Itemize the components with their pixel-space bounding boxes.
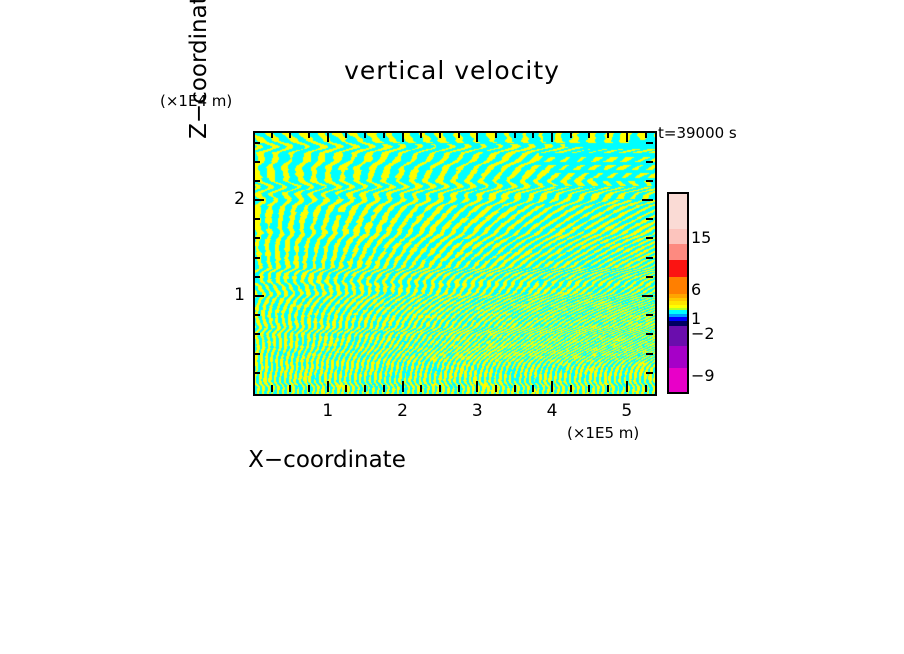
x-axis-unit-label: (×1E5 m) [567,424,639,442]
x-axis-tick [308,131,310,138]
x-axis-tick [308,385,310,392]
x-axis-tick [495,385,497,392]
colorbar-band-1 [669,229,687,245]
colorbar-tick-label: −9 [691,366,715,385]
z-axis-tick [253,314,260,316]
x-axis-tick [345,131,347,138]
x-axis-tick-label: 5 [607,401,647,421]
x-axis-tick [570,131,572,138]
z-axis-tick [646,333,653,335]
x-axis-tick [458,131,460,138]
vertical-velocity-field [255,133,655,394]
x-axis-tick [402,381,404,392]
z-axis-tick [646,353,653,355]
x-axis-tick [327,131,329,142]
x-axis-tick [588,131,590,138]
z-axis-tick [646,180,653,182]
z-axis-tick [646,161,653,163]
x-axis-tick-label: 1 [308,401,348,421]
z-axis-tick [646,237,653,239]
colorbar-band-4 [669,277,687,294]
x-axis-tick [439,385,441,392]
x-axis-tick [458,385,460,392]
x-axis-title-text: X−coordinate [248,447,406,473]
z-axis-tick-label: 2 [219,189,245,209]
x-axis-tick [289,385,291,392]
colorbar-band-16 [669,368,687,392]
colorbar-band-14 [669,326,687,346]
x-axis-tick [645,131,647,138]
x-axis-tick [532,385,534,392]
contour-plot-area [253,131,657,396]
x-axis-tick [626,381,628,392]
z-axis-tick [253,161,260,163]
z-axis-tick [253,257,260,259]
colorbar-tick-label: 6 [691,280,701,299]
x-axis-tick [327,381,329,392]
x-axis-tick [588,385,590,392]
colorbar-tick-label: −2 [691,324,715,343]
x-axis-tick-label: 4 [532,401,572,421]
x-axis-tick [514,131,516,138]
x-axis-tick [476,131,478,142]
z-axis-tick [642,295,653,297]
z-axis-tick [253,237,260,239]
z-axis-tick [646,218,653,220]
z-axis-tick-label: 1 [219,285,245,305]
z-axis-tick [253,142,260,144]
z-axis-tick [253,199,264,201]
z-axis-tick [253,295,264,297]
z-axis-tick [253,276,260,278]
colorbar-band-2 [669,244,687,260]
x-axis-tick [495,131,497,138]
x-axis-tick [607,385,609,392]
x-axis-tick [364,385,366,392]
x-axis-tick [345,385,347,392]
colorbar [667,192,689,394]
colorbar-tick-label: 15 [691,228,711,247]
x-axis-tick [402,131,404,142]
z-axis-tick [646,372,653,374]
x-axis-title: X−coordinate [0,447,904,473]
x-axis-tick-label: 3 [457,401,497,421]
figure-canvas: vertical velocity (×1E4 m) t=39000 s 123… [0,0,904,654]
x-axis-tick [383,385,385,392]
x-axis-tick [420,385,422,392]
z-axis-tick [642,199,653,201]
colorbar-band-15 [669,346,687,369]
x-axis-tick [551,381,553,392]
x-axis-tick [364,131,366,138]
x-axis-tick [271,385,273,392]
x-axis-tick [420,131,422,138]
x-axis-tick [476,381,478,392]
x-axis-tick-label: 2 [383,401,423,421]
z-axis-tick [253,372,260,374]
colorbar-band-0 [669,194,687,229]
time-annotation: t=39000 s [658,124,737,142]
colorbar-band-3 [669,260,687,277]
z-axis-tick [646,142,653,144]
z-axis-tick [253,333,260,335]
z-axis-title: Z−coordinate [186,0,212,170]
z-axis-tick [646,314,653,316]
z-axis-tick [646,257,653,259]
z-axis-tick [646,276,653,278]
x-axis-tick [645,385,647,392]
x-axis-tick [532,131,534,138]
x-axis-tick [607,131,609,138]
x-axis-tick [271,131,273,138]
z-axis-tick [253,180,260,182]
z-axis-tick [253,353,260,355]
page-title: vertical velocity [0,56,904,85]
x-axis-tick [439,131,441,138]
z-axis-tick [253,218,260,220]
x-axis-tick [570,385,572,392]
x-axis-tick [383,131,385,138]
x-axis-tick [289,131,291,138]
x-axis-tick [514,385,516,392]
x-axis-tick [626,131,628,142]
x-axis-tick [551,131,553,142]
